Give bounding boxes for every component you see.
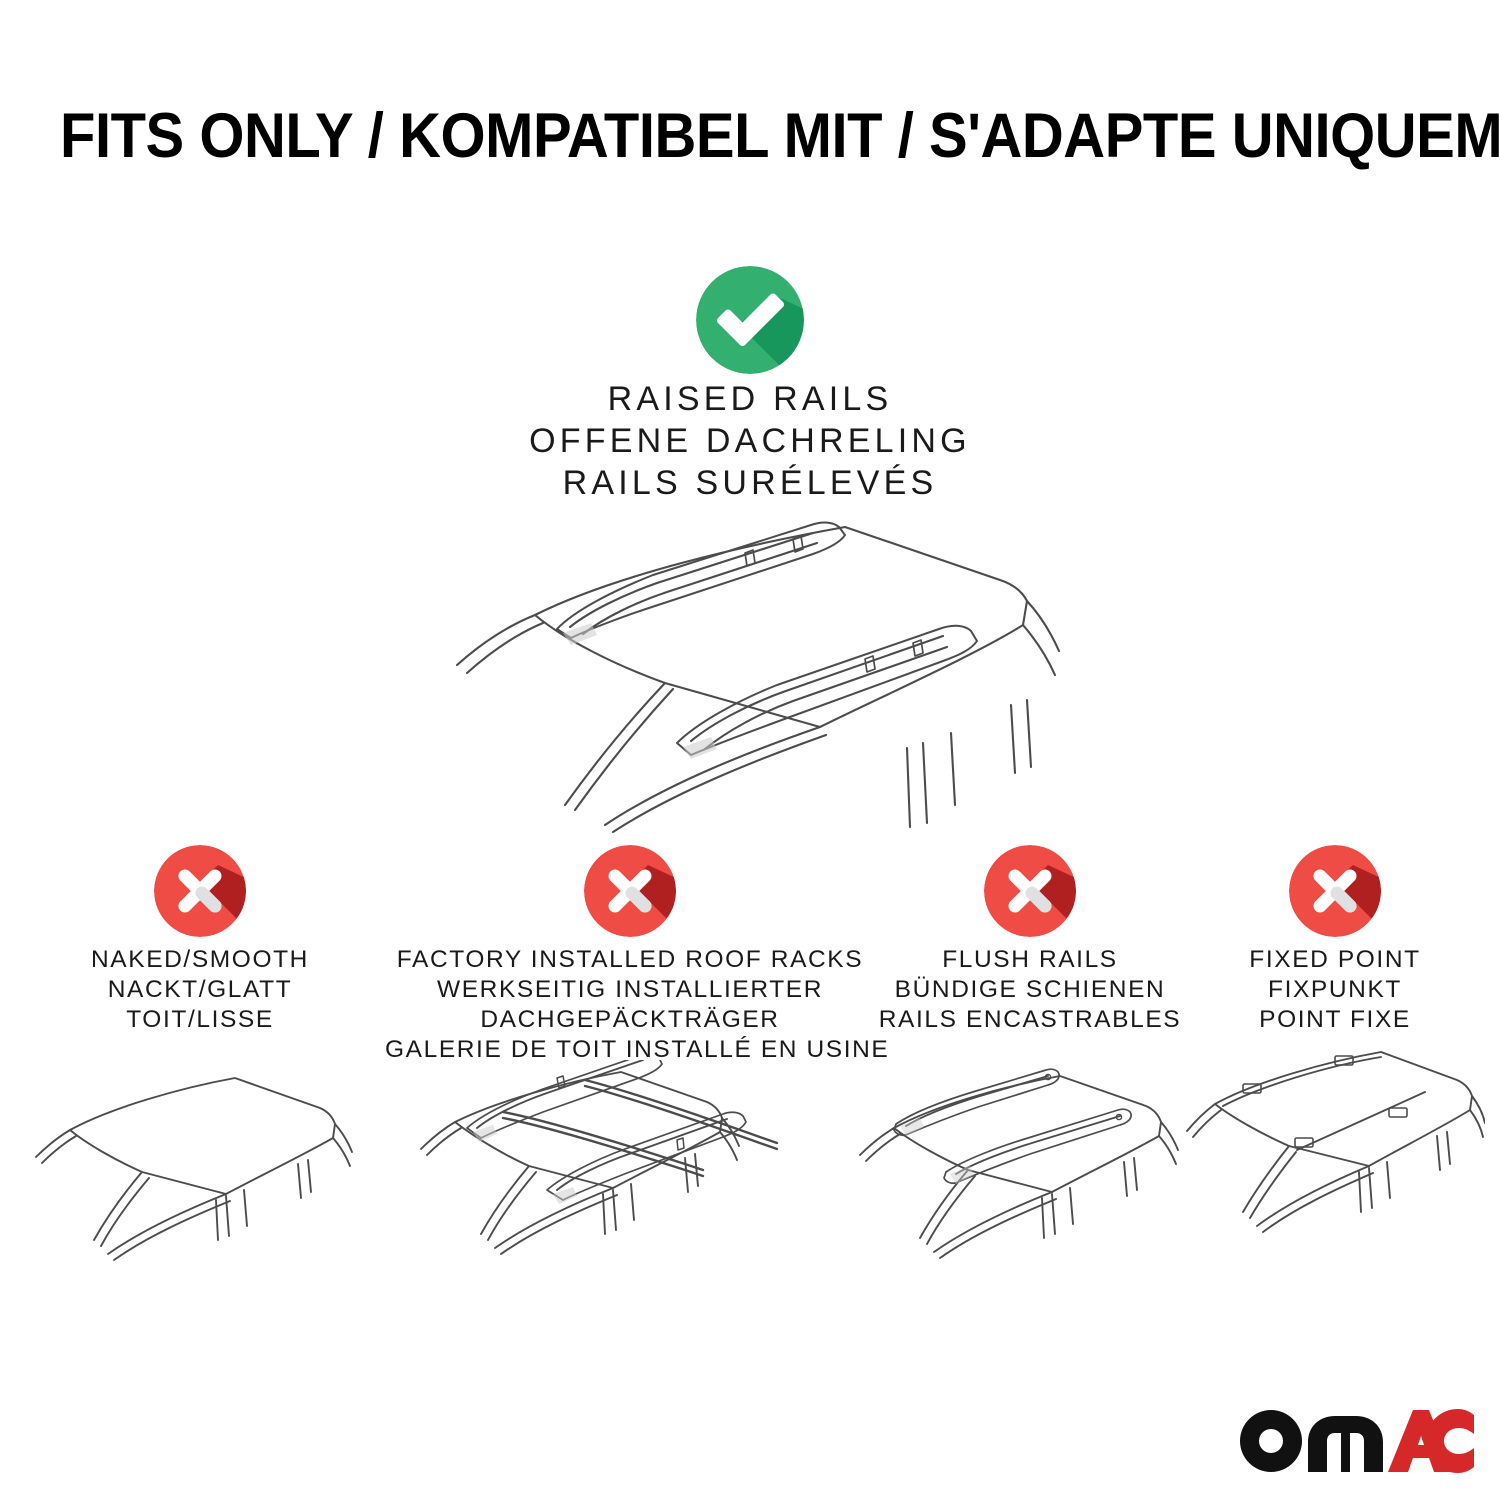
label-line-en: FACTORY INSTALLED ROOF RACKS [385,945,875,975]
red-x-icon [154,845,246,937]
label-line-de: NACKT/GLATT [30,975,370,1005]
car-roof-fixed-point-diagram [1185,1030,1485,1250]
infographic-page: FITS ONLY / KOMPATIBEL MIT / S'ADAPTE UN… [0,0,1500,1500]
incompatible-label-flush-rails: FLUSH RAILS BÜNDIGE SCHIENEN RAILS ENCAS… [850,945,1210,1035]
label-line-en: FLUSH RAILS [850,945,1210,975]
page-title: FITS ONLY / KOMPATIBEL MIT / S'ADAPTE UN… [60,100,1440,172]
label-line-fr: TOIT/LISSE [30,1005,370,1035]
label-line-en: FIXED POINT [1185,945,1485,975]
label-line-de-1: WERKSEITIG INSTALLIERTER [385,975,875,1005]
compatible-line-fr: RAILS SURÉLEVÉS [250,462,1250,504]
red-x-icon [584,845,676,937]
label-line-de-2: DACHGEPÄCKTRÄGER [385,1005,875,1035]
label-line-fr: RAILS ENCASTRABLES [850,1005,1210,1035]
compatible-line-de: OFFENE DACHRELING [250,420,1250,462]
incompatible-label-factory-racks: FACTORY INSTALLED ROOF RACKS WERKSEITIG … [385,945,875,1065]
car-roof-raised-rails-diagram [415,505,1095,835]
green-check-icon [696,266,804,374]
car-roof-factory-rack-diagram [385,1060,875,1280]
incompatible-label-naked-smooth: NAKED/SMOOTH NACKT/GLATT TOIT/LISSE [30,945,370,1035]
car-roof-naked-diagram [30,1060,370,1280]
red-x-icon [1289,845,1381,937]
label-line-de: FIXPUNKT [1185,975,1485,1005]
omac-logo [1238,1408,1474,1474]
incompatible-label-fixed-point: FIXED POINT FIXPUNKT POINT FIXE [1185,945,1485,1035]
label-line-de: BÜNDIGE SCHIENEN [850,975,1210,1005]
label-line-en: NAKED/SMOOTH [30,945,370,975]
compatible-line-en: RAISED RAILS [250,378,1250,420]
car-roof-flush-rails-diagram [850,1060,1210,1280]
compatible-label: RAISED RAILS OFFENE DACHRELING RAILS SUR… [250,378,1250,504]
red-x-icon [984,845,1076,937]
